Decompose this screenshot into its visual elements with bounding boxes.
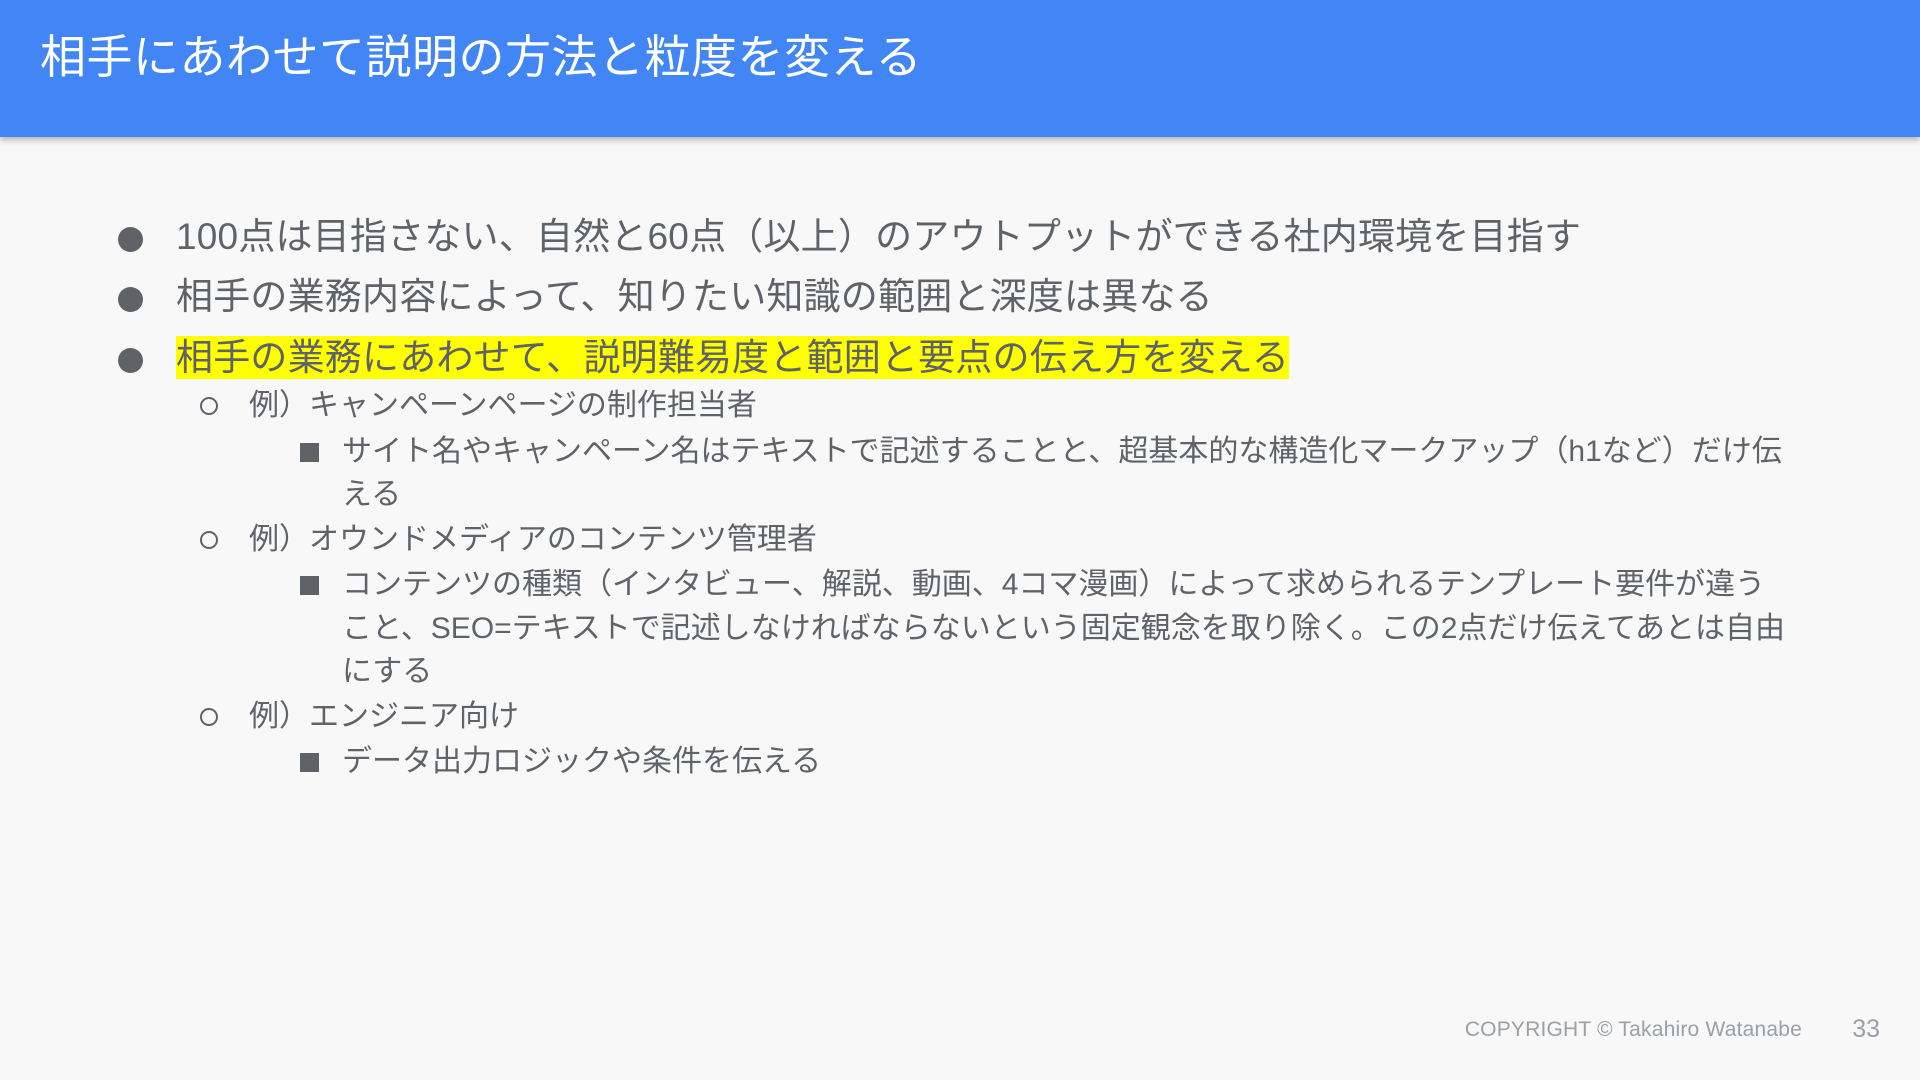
slide-page-number: 33	[1852, 1015, 1880, 1044]
example-group: 例）エンジニア向け データ出力ロジックや条件を伝える	[200, 696, 1900, 784]
bullet-text-highlighted: 相手の業務にあわせて、説明難易度と範囲と要点の伝え方を変える	[176, 334, 1289, 381]
bullet-text: 100点は目指さない、自然と60点（以上）のアウトプットができる社内環境を目指す	[176, 213, 1581, 260]
bullet-text: 相手の業務内容によって、知りたい知識の範囲と深度は異なる	[176, 273, 1213, 320]
presentation-slide: 相手にあわせて説明の方法と粒度を変える 100点は目指さない、自然と60点（以上…	[0, 0, 1920, 1080]
example-group: 例）オウンドメディアのコンテンツ管理者 コンテンツの種類（インタビュー、解説、動…	[200, 519, 1900, 694]
filled-square-bullet-icon	[300, 430, 320, 462]
example-heading-row: 例）エンジニア向け	[200, 696, 1900, 739]
bullet-item: 100点は目指さない、自然と60点（以上）のアウトプットができる社内環境を目指す	[118, 213, 1878, 260]
example-heading: 例）オウンドメディアのコンテンツ管理者	[249, 519, 817, 562]
filled-circle-bullet-icon	[118, 213, 148, 252]
slide-header-bar: 相手にあわせて説明の方法と粒度を変える	[0, 0, 1920, 137]
example-detail-row: コンテンツの種類（インタビュー、解説、動画、4コマ漫画）によって求められるテンプ…	[300, 563, 1900, 694]
example-detail-text: データ出力ロジックや条件を伝える	[342, 740, 821, 784]
highlight-mark: 相手の業務にあわせて、説明難易度と範囲と要点の伝え方を変える	[176, 336, 1289, 379]
example-detail-row: サイト名やキャンペーン名はテキストで記述することと、超基本的な構造化マークアップ…	[300, 430, 1900, 517]
bullet-item-highlighted: 相手の業務にあわせて、説明難易度と範囲と要点の伝え方を変える	[118, 334, 1878, 381]
example-group: 例）キャンペーンページの制作担当者 サイト名やキャンペーン名はテキストで記述する…	[200, 385, 1900, 517]
filled-circle-bullet-icon	[118, 334, 148, 373]
example-detail-list: コンテンツの種類（インタビュー、解説、動画、4コマ漫画）によって求められるテンプ…	[300, 563, 1900, 694]
example-detail-list: サイト名やキャンペーン名はテキストで記述することと、超基本的な構造化マークアップ…	[300, 430, 1900, 517]
slide-body: 100点は目指さない、自然と60点（以上）のアウトプットができる社内環境を目指す…	[0, 137, 1920, 1080]
slide-title: 相手にあわせて説明の方法と粒度を変える	[40, 30, 922, 85]
example-heading: 例）キャンペーンページの制作担当者	[249, 385, 757, 428]
filled-circle-bullet-icon	[118, 273, 148, 312]
example-detail-text: コンテンツの種類（インタビュー、解説、動画、4コマ漫画）によって求められるテンプ…	[342, 563, 1787, 694]
example-detail-text: サイト名やキャンペーン名はテキストで記述することと、超基本的な構造化マークアップ…	[342, 430, 1787, 517]
example-heading: 例）エンジニア向け	[249, 696, 519, 739]
example-heading-row: 例）キャンペーンページの制作担当者	[200, 385, 1900, 428]
example-detail-list: データ出力ロジックや条件を伝える	[300, 740, 1900, 784]
example-detail-row: データ出力ロジックや条件を伝える	[300, 740, 1900, 784]
hollow-circle-bullet-icon	[200, 696, 224, 726]
hollow-circle-bullet-icon	[200, 385, 224, 415]
bullet-item: 相手の業務内容によって、知りたい知識の範囲と深度は異なる	[118, 273, 1878, 320]
footer-copyright: COPYRIGHT © Takahiro Watanabe	[1465, 1018, 1802, 1042]
example-list: 例）キャンペーンページの制作担当者 サイト名やキャンペーン名はテキストで記述する…	[200, 385, 1900, 786]
primary-bullet-list: 100点は目指さない、自然と60点（以上）のアウトプットができる社内環境を目指す…	[118, 213, 1878, 394]
hollow-circle-bullet-icon	[200, 519, 224, 549]
filled-square-bullet-icon	[300, 563, 320, 595]
example-heading-row: 例）オウンドメディアのコンテンツ管理者	[200, 519, 1900, 562]
filled-square-bullet-icon	[300, 740, 320, 772]
